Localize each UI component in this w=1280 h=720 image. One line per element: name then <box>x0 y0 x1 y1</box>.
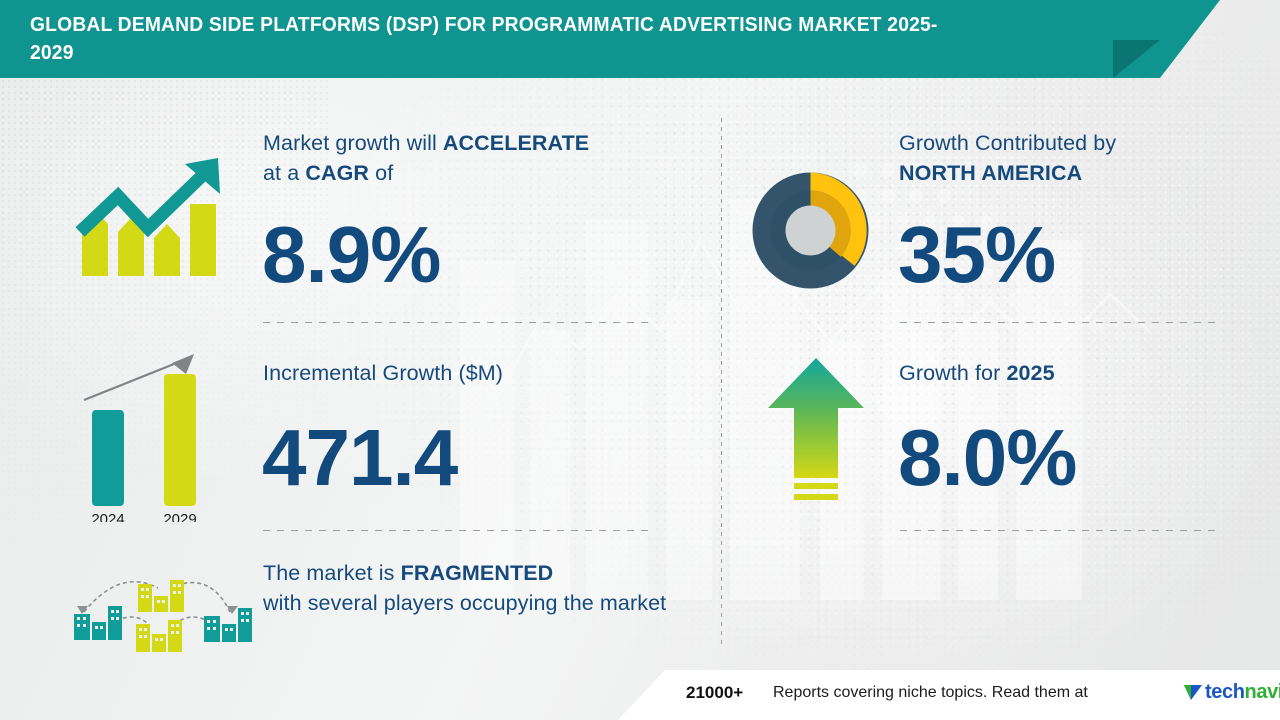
region-contribution-label: Growth Contributed by NORTH AMERICA <box>899 128 1229 188</box>
yearly-growth-label: Growth for 2025 <box>899 358 1229 388</box>
logo-navio-text: navio <box>1245 681 1280 703</box>
cagr-label-line2-bold: CAGR <box>305 161 369 185</box>
infographic-page: GLOBAL DEMAND SIDE PLATFORMS (DSP) FOR P… <box>0 0 1280 720</box>
growth-chart-icon <box>72 148 232 288</box>
footer-bar: 21000+ Reports covering niche topics. Re… <box>0 670 1280 720</box>
technavio-logo[interactable]: technavio™ <box>1183 681 1280 704</box>
reports-count: 21000+ <box>686 683 743 703</box>
divider-left-1 <box>263 322 655 323</box>
header-banner: GLOBAL DEMAND SIDE PLATFORMS (DSP) FOR P… <box>0 0 1160 78</box>
cagr-label-line2-plain: at a <box>263 161 305 185</box>
divider-right-1 <box>900 322 1218 323</box>
divider-left-2 <box>263 530 655 531</box>
incremental-growth-label: Incremental Growth ($M) <box>263 358 683 388</box>
up-arrow-icon <box>766 356 866 504</box>
fragmentation-plain1: The market is <box>263 561 401 585</box>
column-divider <box>721 118 722 646</box>
region-label-plain: Growth Contributed by <box>899 131 1116 155</box>
bar-label-2029: 2029 <box>163 511 196 522</box>
header-fold-shape <box>1160 0 1220 78</box>
market-network-icon <box>62 562 262 657</box>
footer-tagline: Reports covering niche topics. Read them… <box>773 684 1088 702</box>
fragmentation-plain2: with several players occupying the marke… <box>263 591 666 615</box>
cagr-label: Market growth will ACCELERATE at a CAGR … <box>263 128 683 188</box>
fragmentation-label: The market is FRAGMENTED with several pl… <box>263 558 683 618</box>
header-fold-shadow <box>1113 40 1160 78</box>
region-label-bold: NORTH AMERICA <box>899 161 1082 185</box>
incremental-growth-value: 471.4 <box>262 418 457 498</box>
bar-comparison-icon: 2024 2029 <box>72 352 232 522</box>
yearly-growth-value: 8.0% <box>898 418 1076 498</box>
cagr-label-line2-tail: of <box>369 161 393 185</box>
logo-wordmark: technavio™ <box>1205 681 1280 704</box>
donut-chart-icon <box>748 168 873 293</box>
divider-right-2 <box>900 530 1218 531</box>
yearly-growth-bold: 2025 <box>1006 361 1054 385</box>
bar-label-2024: 2024 <box>91 511 124 522</box>
footer-background <box>0 670 1280 720</box>
logo-tech-text: tech <box>1205 681 1245 703</box>
fragmentation-bold: FRAGMENTED <box>401 561 554 585</box>
cagr-label-line1-bold: ACCELERATE <box>443 131 589 155</box>
cagr-label-line1-plain: Market growth will <box>263 131 443 155</box>
yearly-growth-plain: Growth for <box>899 361 1006 385</box>
page-title: GLOBAL DEMAND SIDE PLATFORMS (DSP) FOR P… <box>30 11 970 67</box>
technavio-triangle-icon <box>1183 682 1203 703</box>
cagr-value: 8.9% <box>262 215 440 295</box>
region-contribution-value: 35% <box>898 215 1055 295</box>
